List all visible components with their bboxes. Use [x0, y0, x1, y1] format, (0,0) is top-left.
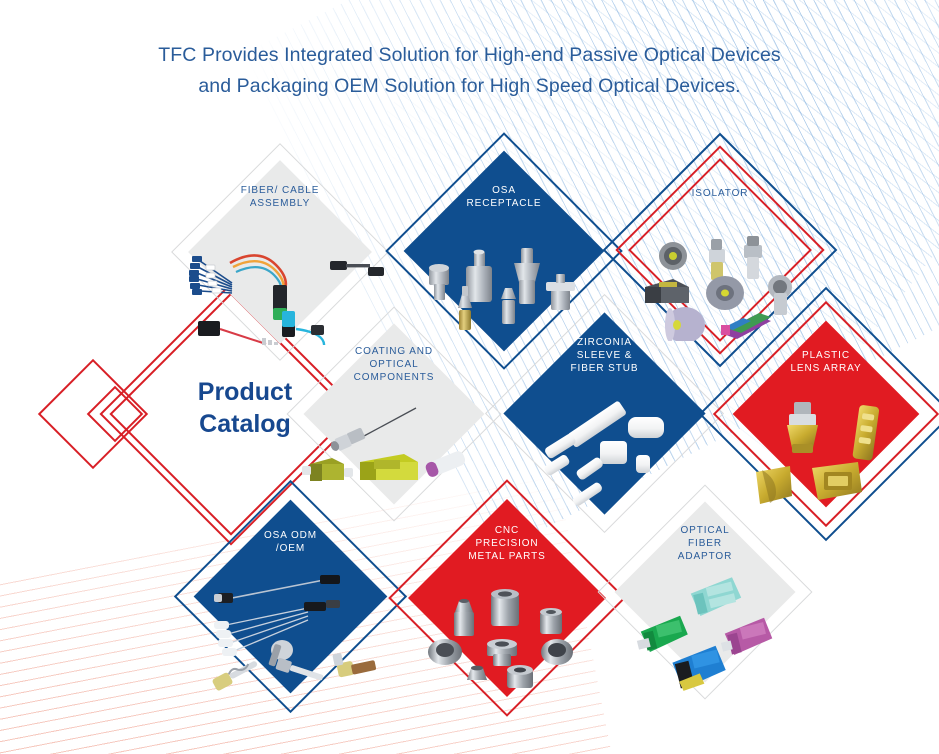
- catalog-poster: TFC Provides Integrated Solution for Hig…: [0, 0, 939, 754]
- headline-line-2: and Packaging OEM Solution for High Spee…: [0, 71, 939, 102]
- tile-osa-receptacle[interactable]: OSA RECEPTACLE: [433, 180, 575, 322]
- tile-optical-fiber-adaptor[interactable]: OPTICAL FIBER ADAPTOR: [641, 528, 769, 656]
- page-headline: TFC Provides Integrated Solution for Hig…: [0, 40, 939, 102]
- tile-adaptor-outline: [598, 485, 813, 700]
- product-catalog-badge: Product Catalog: [60, 318, 350, 510]
- tile-coating-and-optical-components[interactable]: COATING AND OPTICAL COMPONENTS: [330, 350, 458, 478]
- tile-zirconia-sleeve-fiber-stub[interactable]: ZIRCONIA SLEEVE & FIBER STUB: [533, 342, 676, 485]
- tile-cnc-precision-metal-parts[interactable]: CNC PRECISION METAL PARTS: [437, 528, 577, 668]
- catalog-title-line-2: Catalog: [155, 408, 335, 440]
- catalog-title: Product Catalog: [155, 376, 335, 440]
- headline-line-1: TFC Provides Integrated Solution for Hig…: [0, 40, 939, 71]
- tile-isolator[interactable]: ISOLATOR: [655, 185, 785, 315]
- catalog-title-line-1: Product: [155, 376, 335, 408]
- tile-fiber-cable-assembly[interactable]: FIBER/ CABLE ASSEMBLY: [215, 187, 345, 317]
- tile-plastic-lens-array[interactable]: PLASTIC LENS ARRAY: [760, 348, 892, 480]
- tile-osa-odm-oem[interactable]: OSA ODM /OEM: [222, 528, 359, 665]
